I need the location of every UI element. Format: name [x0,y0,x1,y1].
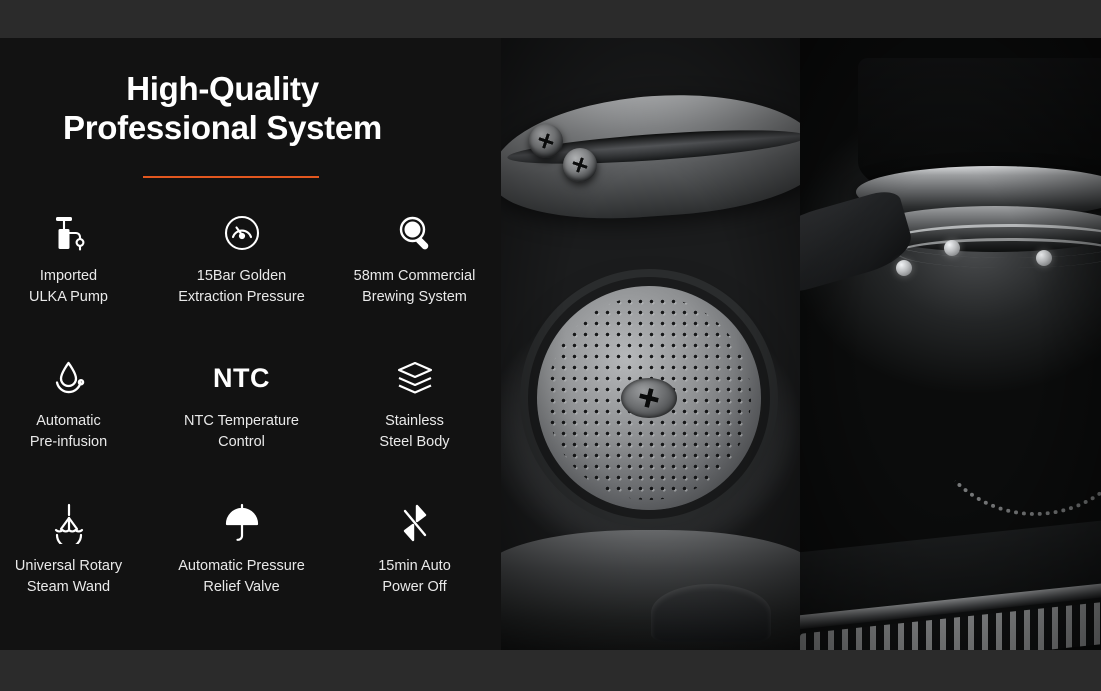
feature-caption: Imported ULKA Pump [29,266,108,307]
headline-line-1: High-Quality [0,70,445,109]
feature-caption: NTC Temperature Control [184,411,299,452]
feature-item-automatic-pre-infusion: Automatic Pre-infusion [0,351,155,496]
screw-head-upper [529,124,563,158]
feature-item-58mm-brewing-system: 58mm Commercial Brewing System [328,206,501,351]
feature-item-15min-auto-power-off: 15min Auto Power Off [328,496,501,641]
ntc-text-icon: NTC [155,355,328,401]
headline-line-2: Professional System [0,109,445,148]
page-title: High-Quality Professional System [0,70,445,148]
steam-wand-icon [0,500,155,546]
features-panel: High-Quality Professional System [0,38,501,650]
highlight-stud-1 [944,240,960,256]
screw-head-lower [563,148,597,182]
espresso-portafilter-photo [800,38,1101,650]
ntc-label: NTC [213,355,270,401]
top-chrome-bar [0,0,1101,38]
feature-grid: Imported ULKA Pump 15Bar Golden Extracti… [0,206,501,641]
bottom-chrome-bar [0,650,1101,691]
feature-caption: 15min Auto Power Off [378,556,451,597]
accent-divider [143,176,319,178]
feature-item-15bar-extraction-pressure: 15Bar Golden Extraction Pressure [155,206,328,351]
feature-item-stainless-steel-body: Stainless Steel Body [328,351,501,496]
feature-caption: Automatic Pressure Relief Valve [178,556,305,597]
highlight-stud-3 [1036,250,1052,266]
highlight-stud-2 [896,260,912,276]
stacked-layers-icon [328,355,501,401]
umbrella-icon [155,500,328,546]
pressure-gauge-icon [155,210,328,256]
feature-item-ntc-temperature-control: NTC NTC Temperature Control [155,351,328,496]
feature-caption: Stainless Steel Body [379,411,449,452]
feature-caption: 58mm Commercial Brewing System [354,266,476,307]
drain-tube [651,584,771,642]
shower-screen-center-screw [621,378,677,418]
feature-item-automatic-pressure-relief-valve: Automatic Pressure Relief Valve [155,496,328,641]
page-root: High-Quality Professional System [0,0,1101,691]
hand-pump-icon [0,210,155,256]
feature-item-imported-ulka-pump: Imported ULKA Pump [0,206,155,351]
espresso-group-head-shower-screen-photo [501,38,800,650]
feature-item-universal-rotary-steam-wand: Universal Rotary Steam Wand [0,496,155,641]
water-droplet-icon [0,355,155,401]
product-feature-banner: High-Quality Professional System [0,38,1101,650]
portafilter-icon [328,210,501,256]
feature-caption: Universal Rotary Steam Wand [15,556,122,597]
shower-screen [537,286,761,510]
feature-caption: 15Bar Golden Extraction Pressure [178,266,305,307]
feature-caption: Automatic Pre-infusion [30,411,107,452]
power-off-bolt-icon [328,500,501,546]
